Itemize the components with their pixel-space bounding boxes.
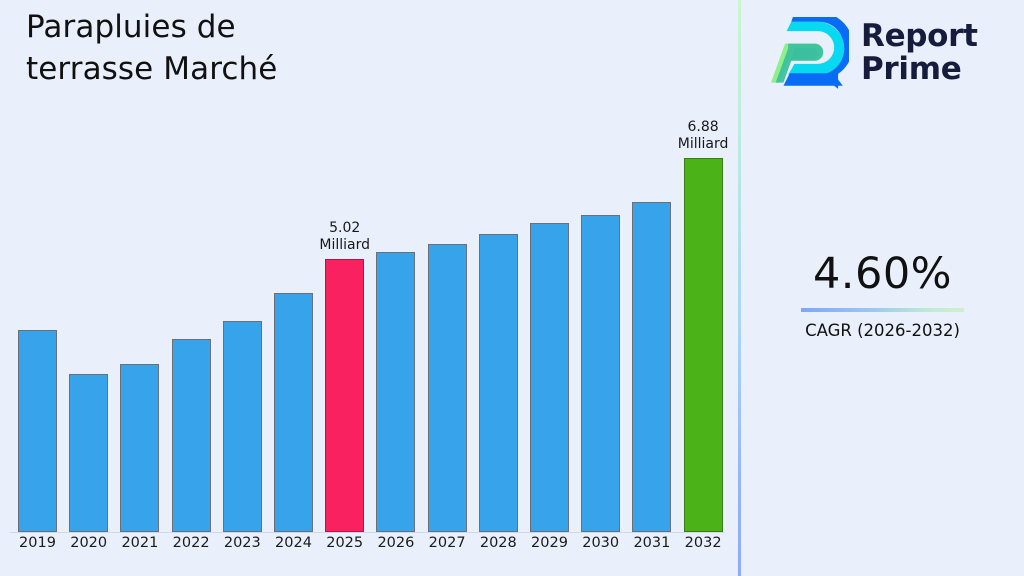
summary-panel: Report Prime 4.60% CAGR (2026-2032) xyxy=(741,0,1024,576)
x-axis-line xyxy=(10,532,725,533)
bar-2022 xyxy=(172,339,211,532)
x-tick-2024: 2024 xyxy=(268,535,320,551)
bar-2025 xyxy=(325,259,364,532)
brand-name: Report Prime xyxy=(861,20,978,86)
bar-2027 xyxy=(428,244,467,532)
cagr-underline xyxy=(801,308,964,312)
x-tick-2026: 2026 xyxy=(370,535,422,551)
chart-panel: Parapluies de terrasse Marché 5.02 Milli… xyxy=(0,0,738,576)
bar-2026 xyxy=(376,252,415,532)
x-tick-2022: 2022 xyxy=(165,535,217,551)
cagr-block: 4.60% CAGR (2026-2032) xyxy=(741,248,1024,341)
bar-2029 xyxy=(530,223,569,532)
bar-2028 xyxy=(479,234,518,532)
page-title: Parapluies de terrasse Marché xyxy=(26,6,446,90)
plot-area: 5.02 Milliard6.88 Milliard xyxy=(0,120,738,533)
bar-2030 xyxy=(581,215,620,532)
x-axis-tick-labels: 2019202020212022202320242025202620272028… xyxy=(0,535,738,561)
x-tick-2032: 2032 xyxy=(677,535,729,551)
bar-2020 xyxy=(69,374,108,532)
x-tick-2029: 2029 xyxy=(524,535,576,551)
bar-2023 xyxy=(223,321,262,532)
bar-2021 xyxy=(120,364,159,532)
x-tick-2031: 2031 xyxy=(626,535,678,551)
cagr-caption: CAGR (2026-2032) xyxy=(741,321,1024,341)
x-tick-2019: 2019 xyxy=(12,535,64,551)
x-tick-2028: 2028 xyxy=(472,535,524,551)
x-tick-2021: 2021 xyxy=(114,535,166,551)
infographic-root: Parapluies de terrasse Marché 5.02 Milli… xyxy=(0,0,1024,576)
bar-value-label-2025: 5.02 Milliard xyxy=(285,220,405,254)
bar-2032 xyxy=(684,158,723,532)
x-tick-2030: 2030 xyxy=(575,535,627,551)
report-prime-logo-icon xyxy=(771,17,849,89)
bar-2024 xyxy=(274,293,313,532)
x-tick-2027: 2027 xyxy=(421,535,473,551)
x-tick-2023: 2023 xyxy=(216,535,268,551)
x-tick-2020: 2020 xyxy=(63,535,115,551)
cagr-value: 4.60% xyxy=(741,248,1024,300)
bar-2031 xyxy=(632,202,671,532)
brand-logo: Report Prime xyxy=(771,10,1021,96)
x-tick-2025: 2025 xyxy=(319,535,371,551)
bar-2019 xyxy=(18,330,57,532)
